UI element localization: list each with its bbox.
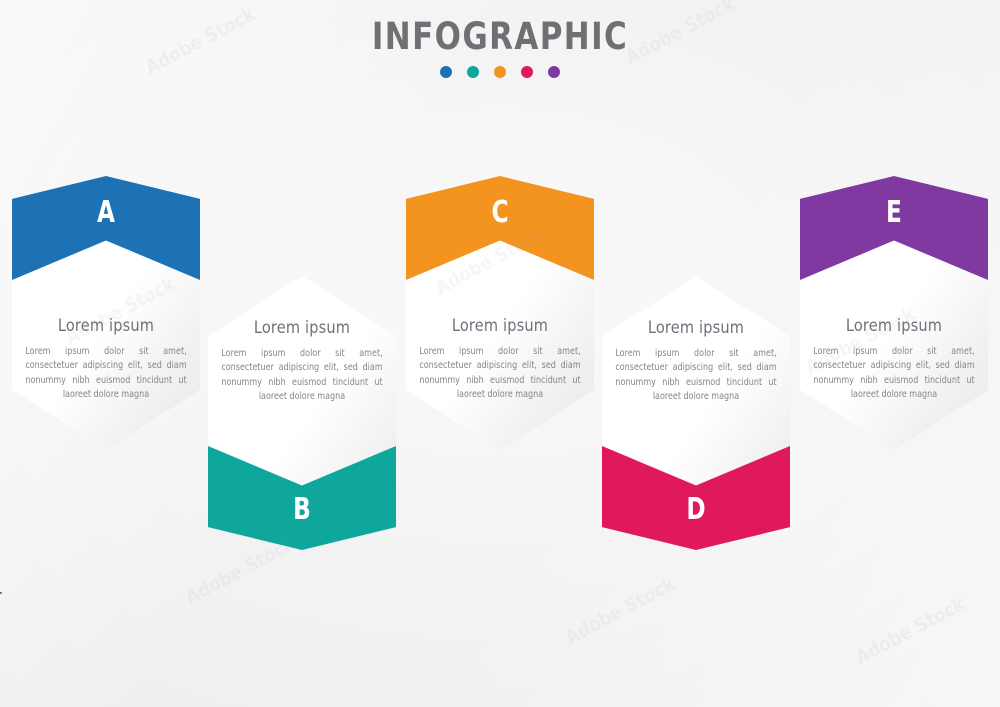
stock-watermark: Adobe Stock | #260336789 [0,486,2,699]
card-text-block: Lorem ipsum Lorem ipsum dolor sit amet, … [806,316,982,403]
infographic-card-c[interactable]: C Lorem ipsum Lorem ipsum dolor sit amet… [406,176,594,450]
title-dots-row [0,66,1000,78]
card-letter: D [615,495,777,525]
card-letter: C [419,198,581,228]
card-body: Lorem ipsum dolor sit amet, consectetuer… [419,345,580,403]
card-letter: A [25,198,187,228]
card-heading: Lorem ipsum [616,318,776,338]
title-block: INFOGRAPHIC [0,18,1000,78]
dot-orange-icon [494,66,506,78]
watermark-tile: Adobe Stock [852,593,969,669]
dot-purple-icon [548,66,560,78]
card-letter: B [221,495,383,525]
card-heading: Lorem ipsum [26,316,186,336]
infographic-card-a[interactable]: A Lorem ipsum Lorem ipsum dolor sit amet… [12,176,200,450]
page-title: INFOGRAPHIC [35,18,965,55]
card-heading: Lorem ipsum [814,316,974,336]
card-text-block: Lorem ipsum Lorem ipsum dolor sit amet, … [18,316,194,403]
card-text-block: Lorem ipsum Lorem ipsum dolor sit amet, … [412,316,588,403]
card-letter: E [813,198,975,228]
card-body: Lorem ipsum dolor sit amet, consectetuer… [615,347,776,405]
dot-crimson-icon [521,66,533,78]
infographic-canvas: Adobe Stock Adobe Stock Adobe Stock Adob… [0,0,1000,707]
card-body: Lorem ipsum dolor sit amet, consectetuer… [813,345,974,403]
card-heading: Lorem ipsum [420,316,580,336]
card-body: Lorem ipsum dolor sit amet, consectetuer… [221,347,382,405]
watermark-tile: Adobe Stock [562,573,679,649]
dot-blue-icon [440,66,452,78]
dot-teal-icon [467,66,479,78]
infographic-card-d[interactable]: D Lorem ipsum Lorem ipsum dolor sit amet… [602,276,790,550]
infographic-card-e[interactable]: E Lorem ipsum Lorem ipsum dolor sit amet… [800,176,988,450]
card-body: Lorem ipsum dolor sit amet, consectetuer… [25,345,186,403]
card-text-block: Lorem ipsum Lorem ipsum dolor sit amet, … [214,318,390,405]
card-text-block: Lorem ipsum Lorem ipsum dolor sit amet, … [608,318,784,405]
infographic-card-b[interactable]: B Lorem ipsum Lorem ipsum dolor sit amet… [208,276,396,550]
card-heading: Lorem ipsum [222,318,382,338]
